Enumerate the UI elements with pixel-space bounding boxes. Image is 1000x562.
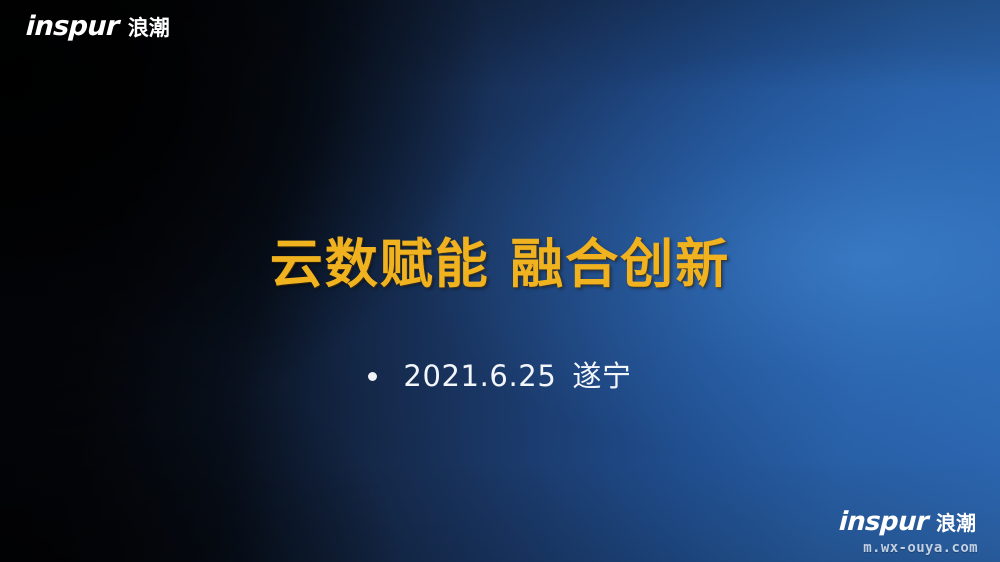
slide-title-container: 云数赋能 融合创新 [0, 200, 1000, 329]
brand-logo-top-left: inspur 浪潮 [26, 13, 170, 40]
subtitle-text: 2021.6.25遂宁 [403, 362, 631, 391]
brand-logo-bottom-right: inspur 浪潮 [839, 509, 976, 535]
brand-logo-cjk-text: 浪潮 [128, 18, 170, 39]
subtitle-bullet-item: 2021.6.25遂宁 [368, 362, 631, 391]
title-slide: inspur 浪潮 云数赋能 融合创新 2021.6.25遂宁 inspur 浪… [0, 0, 1000, 562]
site-watermark: m.wx-ouya.com [863, 541, 978, 555]
slide-subtitle-container: 2021.6.25遂宁 [0, 362, 1000, 391]
subtitle-date: 2021.6.25 [403, 359, 556, 393]
brand-logo-latin-text-bottom: inspur [838, 509, 929, 535]
slide-title: 云数赋能 融合创新 [270, 236, 730, 294]
brand-logo-latin-text: inspur [25, 13, 119, 40]
subtitle-location: 遂宁 [572, 359, 631, 393]
bullet-dot-icon [368, 372, 377, 381]
brand-logo-cjk-text-bottom: 浪潮 [936, 513, 976, 533]
